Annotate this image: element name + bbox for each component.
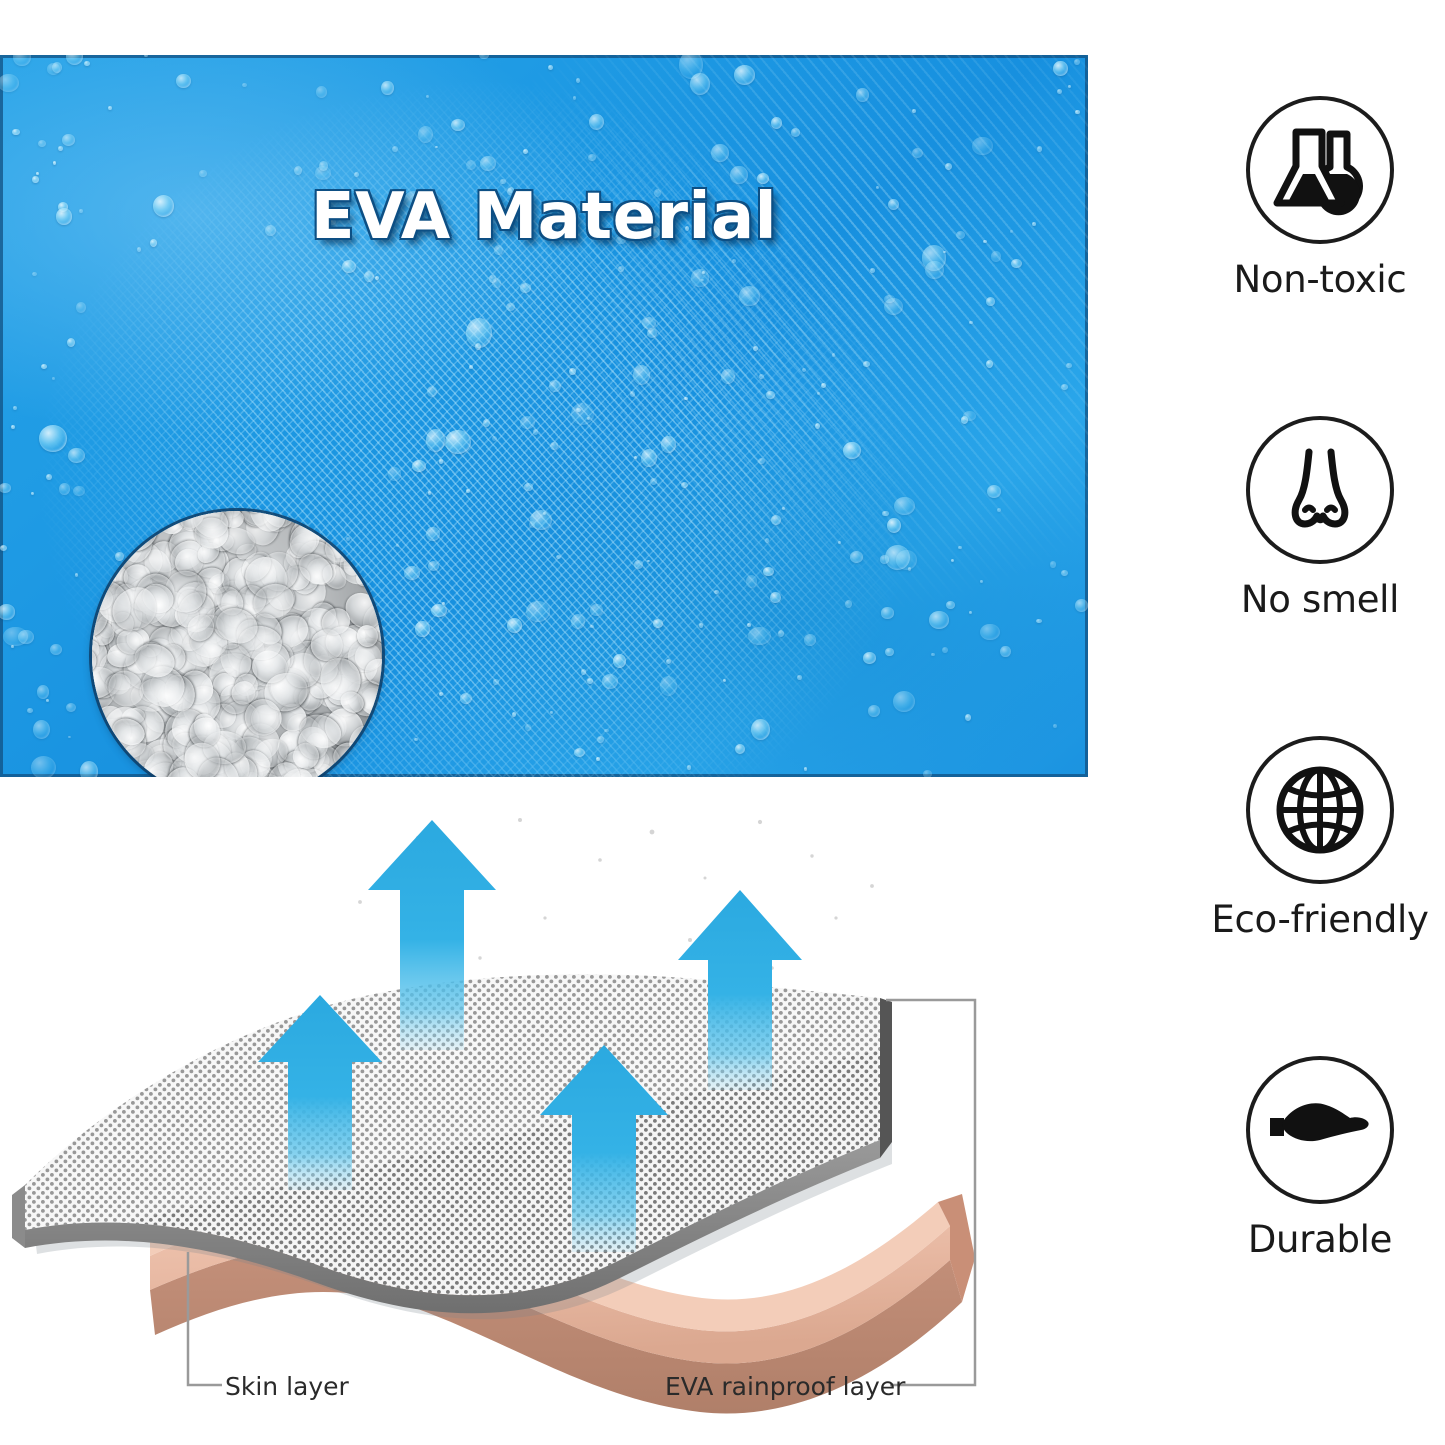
water-droplet [62, 134, 75, 146]
water-droplet [38, 140, 47, 147]
feature-item-eco-friendly: Eco-friendly [1195, 736, 1445, 941]
water-droplet [986, 297, 995, 306]
water-droplet [863, 361, 870, 367]
water-droplet [817, 392, 820, 395]
water-droplet [702, 271, 705, 274]
water-droplet [199, 170, 206, 177]
water-droplet [466, 489, 470, 492]
water-droplet [747, 623, 752, 627]
water-droplet [342, 260, 356, 273]
water-droplet [0, 604, 15, 619]
water-droplet [721, 369, 735, 384]
water-droplet [32, 272, 37, 276]
water-droplet [1074, 59, 1080, 65]
water-droplet [647, 328, 657, 338]
water-droplet [556, 555, 561, 559]
water-droplet [969, 611, 972, 614]
water-droplet [748, 627, 771, 646]
water-droplet [711, 144, 729, 162]
water-droplet [997, 508, 1001, 512]
feature-label-durable: Durable [1195, 1218, 1445, 1261]
water-droplet [893, 691, 915, 711]
nose-icon [1268, 438, 1372, 542]
globe-icon [1265, 755, 1375, 865]
water-droplet [759, 374, 764, 378]
water-droplet [426, 95, 430, 99]
water-droplet [176, 74, 191, 88]
feature-label-eco-friendly: Eco-friendly [1195, 898, 1445, 941]
water-droplet [439, 459, 444, 464]
water-droplet [392, 146, 398, 152]
water-droplet [512, 712, 516, 717]
fabric-layer-diagram: Skin layer EVA rainproof layer [0, 790, 1100, 1445]
water-droplet [965, 714, 972, 721]
water-droplet [46, 474, 52, 480]
feature-circle-non-toxic [1246, 96, 1394, 244]
water-droplet [684, 397, 688, 400]
water-droplet [76, 302, 86, 313]
water-droplet [12, 129, 19, 135]
water-droplet [690, 73, 709, 95]
water-droplet [144, 55, 148, 57]
water-droplet [885, 648, 894, 657]
water-droplet [765, 538, 769, 542]
feature-label-non-toxic: Non-toxic [1195, 258, 1445, 301]
water-droplet [571, 614, 585, 629]
water-droplet [451, 119, 465, 131]
hero-title: EVA Material [0, 180, 1088, 254]
label-eva-rainproof-layer: EVA rainproof layer [665, 1372, 905, 1401]
water-droplet [480, 156, 496, 171]
water-droplet [381, 81, 393, 95]
water-droplet [838, 541, 841, 545]
water-droplet [11, 425, 15, 429]
water-droplet [882, 511, 888, 517]
water-droplet [931, 653, 934, 656]
water-droplet [576, 78, 580, 83]
water-droplet [492, 436, 497, 442]
water-droplet [613, 654, 626, 668]
water-droplet [701, 279, 704, 282]
water-droplet [887, 518, 901, 533]
water-droplet [431, 604, 447, 617]
water-droplet [469, 365, 473, 369]
water-droplet [1068, 85, 1071, 88]
water-droplet [520, 283, 531, 292]
water-droplet [770, 592, 781, 603]
hand-icon [1264, 1082, 1376, 1178]
water-droplet [850, 551, 863, 563]
water-droplet [945, 163, 952, 170]
water-droplet [758, 458, 765, 464]
water-droplet [863, 652, 876, 664]
water-droplet [73, 486, 84, 497]
water-droplet [589, 114, 604, 130]
feature-icon-column: Non-toxic No smell Eco-friendly [1195, 96, 1445, 1346]
water-droplet [587, 417, 590, 420]
water-droplet [67, 338, 75, 347]
water-droplet [58, 146, 64, 151]
water-droplet [75, 573, 79, 577]
water-droplet [1066, 363, 1072, 368]
water-droplet [581, 669, 586, 675]
water-droplet [571, 403, 594, 425]
water-droplet [84, 61, 91, 67]
water-droplet [634, 456, 637, 459]
water-droplet [549, 380, 560, 392]
water-droplet [0, 483, 11, 492]
water-droplet [734, 65, 755, 85]
flask-icon [1268, 118, 1372, 222]
layer-diagram-svg [0, 790, 1100, 1445]
water-droplet [523, 149, 529, 155]
water-droplet [388, 467, 400, 481]
water-droplet [596, 757, 600, 761]
water-droplet [533, 429, 538, 435]
water-droplet [687, 765, 691, 769]
eva-resin-pellets-inset [92, 511, 382, 777]
feature-circle-eco-friendly [1246, 736, 1394, 884]
water-droplet [550, 442, 558, 450]
water-droplet [1057, 89, 1062, 94]
water-droplet [753, 346, 758, 351]
water-droplet [735, 744, 745, 754]
water-droplet [428, 561, 439, 571]
water-droplet [602, 674, 618, 689]
water-droplet [435, 146, 438, 149]
water-droplet [460, 693, 472, 704]
water-droplet [68, 736, 71, 739]
water-droplet [1036, 619, 1041, 623]
water-droplet [37, 685, 49, 698]
water-droplet [587, 678, 593, 684]
water-droplet [843, 442, 860, 459]
water-droplet [36, 172, 39, 175]
water-droplet [375, 276, 379, 280]
water-droplet [590, 625, 593, 628]
water-droplet [856, 88, 868, 102]
water-droplet [894, 497, 915, 515]
water-droplet [520, 416, 535, 429]
water-droplet [912, 109, 916, 113]
water-droplet [242, 83, 247, 87]
water-droplet [13, 406, 17, 411]
water-droplet [573, 96, 576, 100]
water-droplet [969, 321, 973, 324]
feature-item-no-smell: No smell [1195, 416, 1445, 621]
water-droplet [963, 411, 976, 422]
water-droplet [880, 555, 890, 564]
feature-label-no-smell: No smell [1195, 578, 1445, 621]
water-droplet [426, 429, 446, 451]
water-droplet [1000, 646, 1010, 657]
water-droplet [946, 601, 955, 609]
water-droplet [1011, 259, 1022, 268]
water-droplet [1075, 110, 1079, 114]
feature-circle-durable [1246, 1056, 1394, 1204]
water-droplet [1053, 61, 1068, 76]
water-droplet [108, 106, 112, 110]
water-droplet [590, 604, 602, 616]
water-droplet [415, 621, 430, 638]
water-droplet [364, 271, 374, 282]
water-droplet [66, 55, 84, 65]
water-droplet [972, 137, 993, 156]
water-droplet [27, 708, 33, 713]
water-droplet [354, 172, 359, 177]
water-droplet [319, 161, 328, 171]
water-droplet [445, 430, 471, 454]
water-droplet [987, 485, 1002, 499]
water-droplet [483, 419, 490, 427]
water-droplet [714, 590, 719, 595]
water-droplet [870, 268, 875, 272]
water-droplet [59, 483, 70, 495]
water-droplet [466, 160, 476, 170]
water-droplet [1061, 384, 1068, 390]
water-droplet [33, 720, 50, 739]
water-droplet [746, 575, 758, 588]
eva-material-hero-panel: EVA Material [0, 55, 1088, 777]
water-droplet [550, 711, 553, 714]
water-droplet [524, 483, 532, 490]
water-droplet [548, 65, 553, 70]
water-droplet [732, 259, 736, 263]
water-droplet [439, 692, 444, 696]
water-droplet [294, 166, 302, 175]
water-droplet [530, 510, 552, 530]
water-droplet [46, 699, 50, 702]
water-droplet [52, 377, 55, 380]
water-droplet [804, 634, 816, 646]
water-droplet [475, 343, 481, 350]
water-droplet [396, 544, 399, 547]
water-droplet [13, 55, 30, 66]
water-droplet [815, 423, 820, 429]
water-droplet [39, 425, 67, 452]
water-droplet [699, 623, 703, 628]
water-droplet [31, 756, 56, 777]
water-droplet [980, 580, 983, 583]
water-droplet [1075, 599, 1088, 612]
water-droplet [868, 705, 880, 717]
water-droplet [751, 719, 771, 741]
water-droplet [507, 618, 522, 633]
water-droplet [630, 391, 635, 397]
water-droplet [634, 560, 643, 569]
water-droplet [428, 491, 431, 494]
water-droplet [492, 278, 502, 288]
water-droplet [821, 383, 826, 389]
water-droplet [766, 391, 775, 400]
feature-item-non-toxic: Non-toxic [1195, 96, 1445, 301]
water-droplet [778, 630, 784, 637]
water-droplet [31, 492, 34, 495]
label-skin-layer: Skin layer [225, 1372, 349, 1401]
water-droplet [3, 627, 27, 646]
pellet-grain [92, 511, 382, 777]
water-droplet [782, 507, 785, 510]
water-droplet [804, 767, 808, 771]
water-droplet [832, 353, 835, 357]
water-droplet [506, 303, 514, 311]
water-droplet [653, 619, 663, 628]
water-droplet [618, 266, 624, 272]
water-droplet [958, 546, 962, 550]
water-droplet [50, 644, 62, 655]
water-droplet [923, 770, 932, 777]
water-droplet [588, 154, 595, 161]
water-droplet [1037, 146, 1042, 151]
water-droplet [418, 126, 433, 143]
water-droplet [925, 261, 944, 279]
water-droplet [691, 269, 708, 286]
water-droplet [1061, 570, 1068, 576]
water-droplet [845, 600, 852, 607]
water-droplet [942, 647, 948, 653]
water-droplet [802, 368, 806, 372]
feature-circle-no-smell [1246, 416, 1394, 564]
water-droplet [427, 386, 437, 396]
water-droplet [53, 161, 56, 165]
water-droplet [493, 679, 500, 684]
water-droplet [739, 286, 760, 306]
water-droplet [633, 365, 651, 385]
water-droplet [771, 117, 782, 129]
water-droplet [316, 86, 327, 98]
feature-item-durable: Durable [1195, 1056, 1445, 1261]
water-droplet [951, 559, 954, 562]
water-droplet [641, 449, 657, 467]
water-droplet [929, 611, 949, 628]
water-droplet [412, 460, 426, 472]
water-droplet [0, 74, 19, 92]
water-droplet [791, 128, 800, 137]
water-droplet [525, 724, 531, 731]
water-droplet [426, 527, 440, 542]
water-droplet [41, 364, 47, 369]
water-droplet [569, 368, 576, 375]
water-droplet [414, 738, 418, 741]
water-droplet [986, 360, 993, 368]
water-droplet [660, 676, 677, 696]
water-droplet [771, 515, 781, 525]
water-droplet [661, 436, 676, 453]
water-droplet [666, 659, 671, 664]
water-droplet [650, 478, 657, 486]
water-droplet [912, 148, 923, 158]
water-droplet [723, 679, 726, 682]
water-droplet [1053, 724, 1057, 728]
water-droplet [681, 482, 688, 488]
water-droplet [647, 560, 650, 562]
water-droplet [574, 748, 585, 757]
water-droplet [604, 729, 608, 733]
water-droplet [66, 703, 76, 712]
water-droplet [404, 566, 420, 580]
water-droplet [0, 545, 7, 551]
water-droplet [1050, 561, 1056, 567]
water-droplet [763, 567, 774, 576]
water-droplet [479, 55, 488, 59]
water-droplet [881, 607, 894, 618]
water-droplet [52, 62, 62, 73]
water-droplet [68, 448, 84, 463]
water-droplet [980, 624, 1000, 641]
water-droplet [597, 736, 605, 743]
water-droplet [797, 675, 802, 680]
water-droplet [526, 601, 550, 622]
water-droplet [896, 550, 917, 570]
